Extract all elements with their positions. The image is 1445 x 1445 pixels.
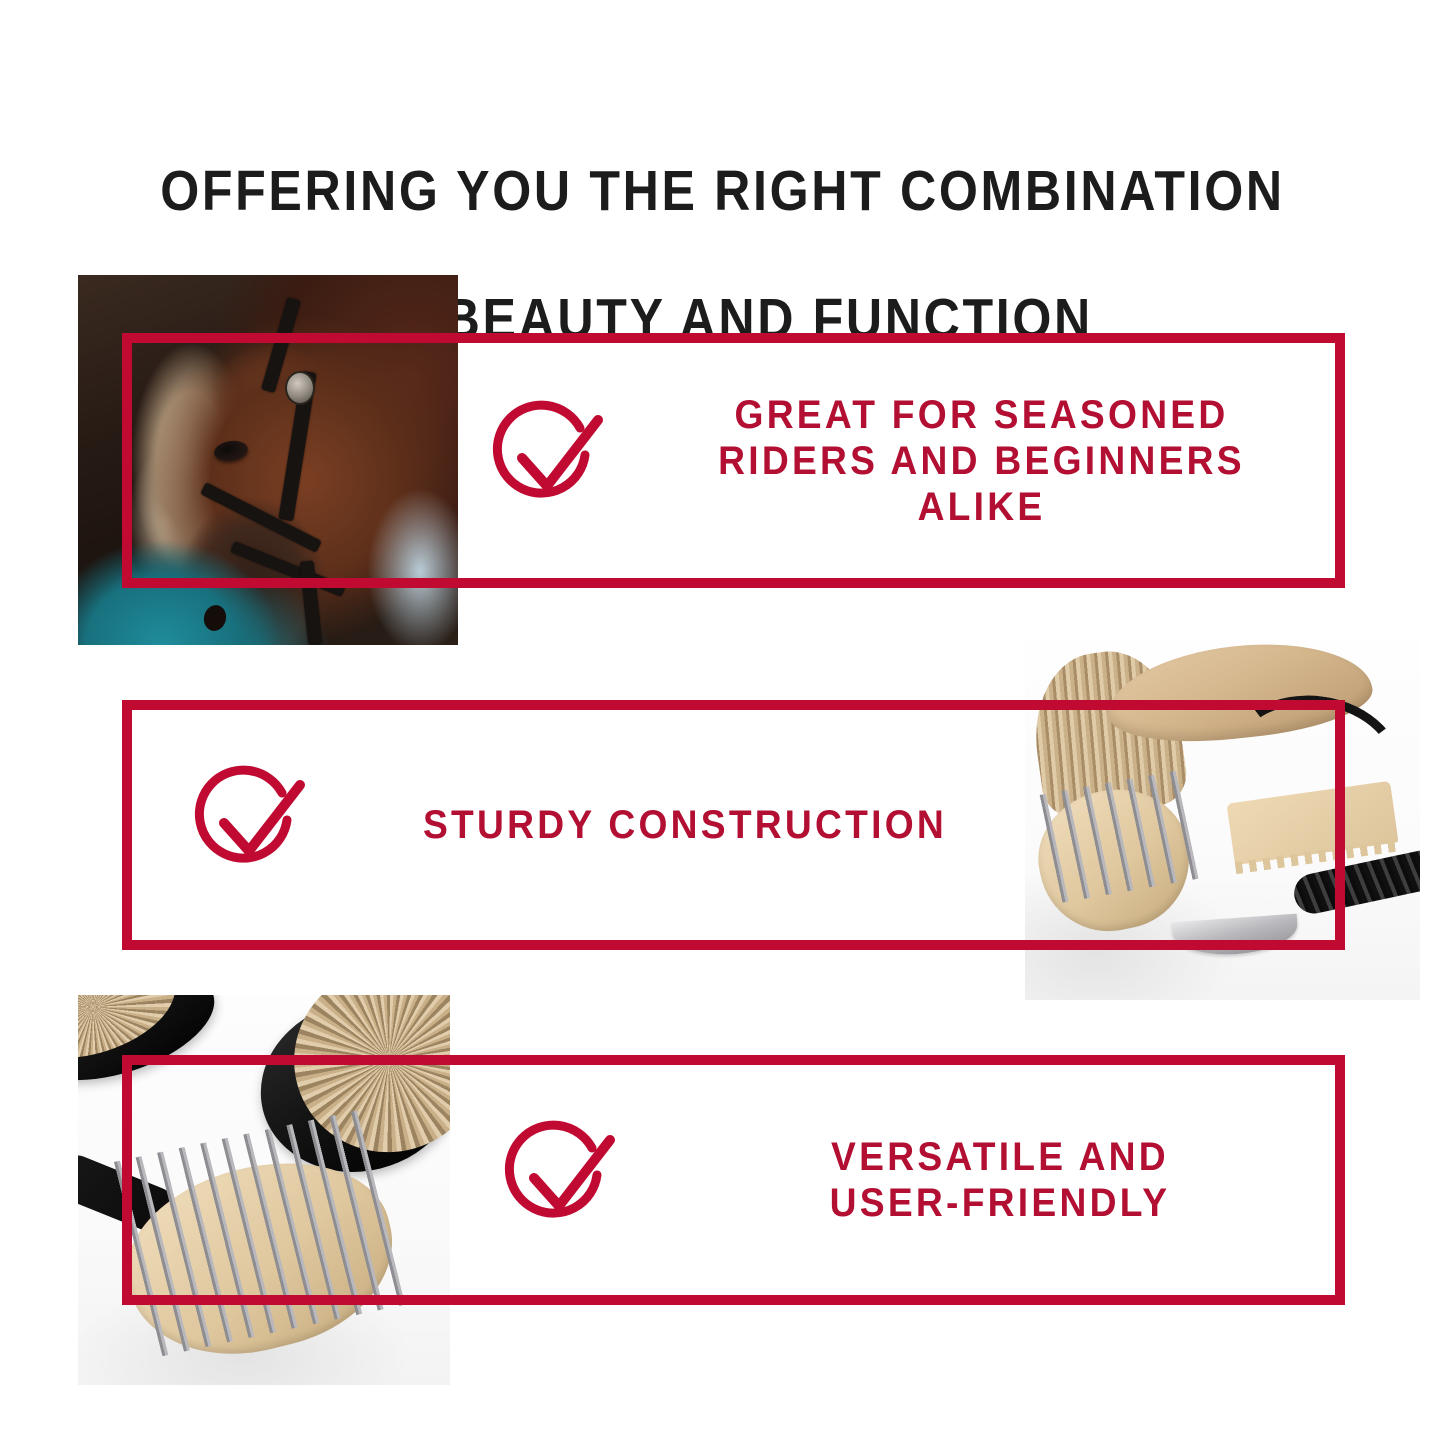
check-circle-icon [488, 398, 608, 523]
feature-content-2: STURDY CONSTRUCTION [190, 700, 1040, 950]
page-title-line-1: OFFERING YOU THE RIGHT COMBINATION [87, 159, 1359, 223]
horse-nostril [201, 603, 229, 634]
feature-label-3: VERSATILE AND USER-FRIENDLY [735, 1134, 1265, 1226]
horse-eye [213, 438, 250, 463]
feature-image-mane-comb [78, 995, 450, 1385]
check-circle-icon [500, 1118, 620, 1243]
feature-label-2: STURDY CONSTRUCTION [392, 802, 978, 848]
check-circle-icon [190, 763, 310, 888]
feature-content-1: GREAT FOR SEASONED RIDERS AND BEGINNERS … [480, 333, 1345, 588]
feature-content-3: VERSATILE AND USER-FRIENDLY [500, 1055, 1345, 1305]
infographic-page: OFFERING YOU THE RIGHT COMBINATION OF BE… [0, 0, 1445, 1445]
halter-noseband [200, 482, 322, 553]
feature-label-1: GREAT FOR SEASONED RIDERS AND BEGINNERS … [699, 392, 1264, 530]
halter-lead-strap [300, 560, 323, 645]
hoof-pick-blade [1172, 914, 1299, 959]
feature-image-horse [78, 275, 458, 645]
feature-image-grooming-tools [1025, 640, 1420, 1000]
halter-buckle [285, 371, 315, 405]
halter-chin-strap [230, 541, 346, 597]
mane-comb-pins [112, 1108, 410, 1358]
